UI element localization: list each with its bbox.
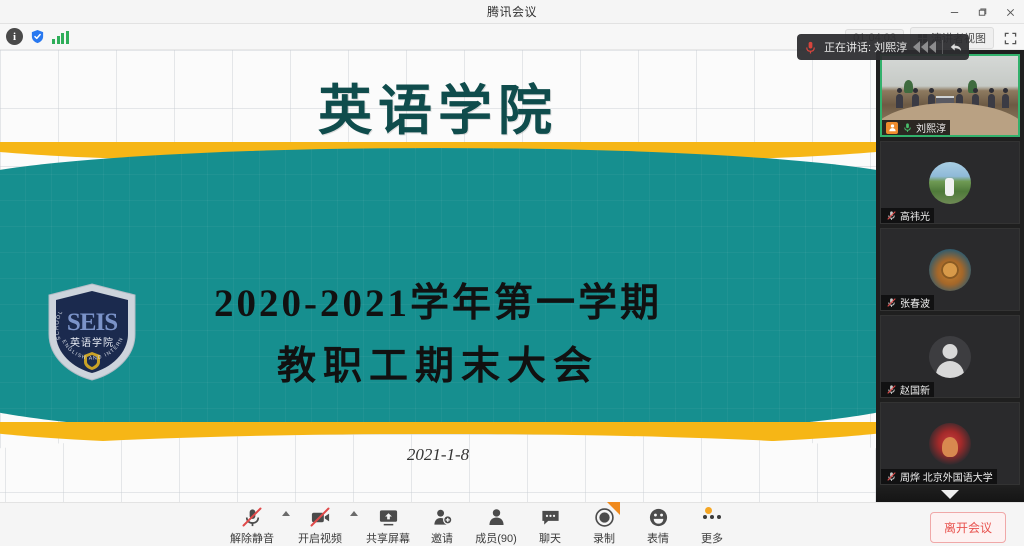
video-options-caret[interactable]	[347, 511, 361, 516]
more-button[interactable]: 更多	[685, 503, 739, 546]
mic-muted-icon	[885, 384, 897, 396]
mic-muted-icon	[885, 297, 897, 309]
record-button[interactable]: 录制	[577, 503, 631, 546]
toast-divider	[942, 40, 943, 54]
participant-name: 周烨 北京外国语大学	[900, 469, 993, 484]
window-title-bar: 腾讯会议	[0, 0, 1024, 24]
mic-options-caret[interactable]	[279, 511, 293, 516]
mic-speaking-icon	[803, 40, 818, 55]
participant-name-bar: 张春波	[881, 295, 934, 310]
avatar	[929, 249, 971, 291]
shared-screen-stage[interactable]: 英语学院 SEIS 英语学院 SCHOOL OF ENGLISH	[0, 50, 876, 502]
mute-button[interactable]: 解除静音	[225, 503, 279, 546]
avatar	[929, 162, 971, 204]
participant-tile[interactable]: 高祎光	[880, 141, 1020, 224]
status-icons-group: i	[6, 28, 69, 45]
chat-button[interactable]: 聊天	[523, 503, 577, 546]
close-button[interactable]	[996, 0, 1024, 24]
more-dots-icon	[703, 506, 721, 528]
toolbar-label: 共享屏幕	[366, 530, 410, 546]
participant-name: 赵国新	[900, 382, 930, 397]
toolbar-label: 更多	[701, 530, 723, 546]
toolbar-label: 表情	[647, 530, 669, 546]
chevron-down-icon[interactable]	[876, 486, 1024, 502]
slide-date: 2021-1-8	[0, 445, 876, 465]
participant-tile[interactable]: 张春波	[880, 228, 1020, 311]
toolbar-buttons-group: 解除静音 开启视频 共享屏幕 邀请	[225, 503, 739, 546]
fullscreen-icon[interactable]	[1000, 29, 1020, 47]
camera-off-icon	[310, 506, 331, 528]
toolbar-label: 开启视频	[298, 530, 342, 546]
avatar	[929, 336, 971, 378]
maximize-button[interactable]	[968, 0, 996, 24]
host-badge-icon	[886, 122, 898, 134]
record-icon	[594, 506, 615, 528]
avatar	[929, 423, 971, 465]
reply-arrow-icon[interactable]	[949, 40, 963, 54]
slide-school-title: 英语学院	[0, 66, 876, 145]
app-title: 腾讯会议	[487, 3, 537, 20]
participants-button[interactable]: 成员(90)	[469, 503, 523, 546]
participant-tile[interactable]: 周烨 北京外国语大学	[880, 402, 1020, 485]
participant-name-bar: 高祎光	[881, 208, 934, 223]
participant-name: 刘熙淳	[916, 120, 946, 135]
toolbar-label: 录制	[593, 530, 615, 546]
invite-person-icon	[432, 506, 453, 528]
chat-bubble-icon	[540, 506, 561, 528]
speaking-label: 正在讲话: 刘熙淳	[824, 39, 907, 55]
toolbar-label: 邀请	[431, 530, 453, 546]
info-icon[interactable]: i	[6, 28, 23, 45]
invite-button[interactable]: 邀请	[415, 503, 469, 546]
participant-name-bar: 周烨 北京外国语大学	[881, 469, 997, 484]
share-screen-icon	[378, 506, 399, 528]
mic-muted-icon	[242, 506, 263, 528]
active-speaker-toast: 正在讲话: 刘熙淳	[797, 34, 969, 60]
participant-name: 高祎光	[900, 208, 930, 223]
sound-wave-icon	[913, 41, 936, 53]
toolbar-label: 聊天	[539, 530, 561, 546]
presentation-slide: 英语学院 SEIS 英语学院 SCHOOL OF ENGLISH	[0, 50, 876, 502]
mic-muted-icon	[885, 471, 897, 483]
participants-icon	[486, 506, 507, 528]
toolbar-label: 解除静音	[230, 530, 274, 546]
record-corner-badge	[607, 502, 620, 515]
signal-icon[interactable]	[52, 30, 69, 44]
participant-tile[interactable]: 刘熙淳	[880, 54, 1020, 137]
participant-tile[interactable]: 赵国新	[880, 315, 1020, 398]
emoji-icon	[648, 506, 669, 528]
svg-text:英语学院: 英语学院	[70, 336, 114, 349]
participant-name: 张春波	[900, 295, 930, 310]
school-logo: SEIS 英语学院 SCHOOL OF ENGLISH AND INTERNAT…	[45, 282, 139, 382]
window-controls	[940, 0, 1024, 24]
participant-name-bar: 赵国新	[881, 382, 934, 397]
meeting-toolbar: 解除静音 开启视频 共享屏幕 邀请	[0, 502, 1024, 546]
emoji-button[interactable]: 表情	[631, 503, 685, 546]
shield-icon[interactable]	[29, 28, 46, 45]
minimize-button[interactable]	[940, 0, 968, 24]
video-button[interactable]: 开启视频	[293, 503, 347, 546]
svg-text:SEIS: SEIS	[67, 309, 117, 336]
mic-on-icon	[901, 122, 913, 134]
tencent-meeting-window: 腾讯会议 i 01:04:03 演讲者视图	[0, 0, 1024, 546]
participant-rail[interactable]: 刘熙淳 高祎光 张春波	[876, 50, 1024, 502]
more-notification-dot	[705, 507, 712, 514]
share-screen-button[interactable]: 共享屏幕	[361, 503, 415, 546]
mic-muted-icon	[885, 210, 897, 222]
leave-meeting-button[interactable]: 离开会议	[930, 512, 1006, 543]
participant-name-bar: 刘熙淳	[882, 120, 950, 135]
toolbar-label: 成员(90)	[475, 530, 517, 546]
